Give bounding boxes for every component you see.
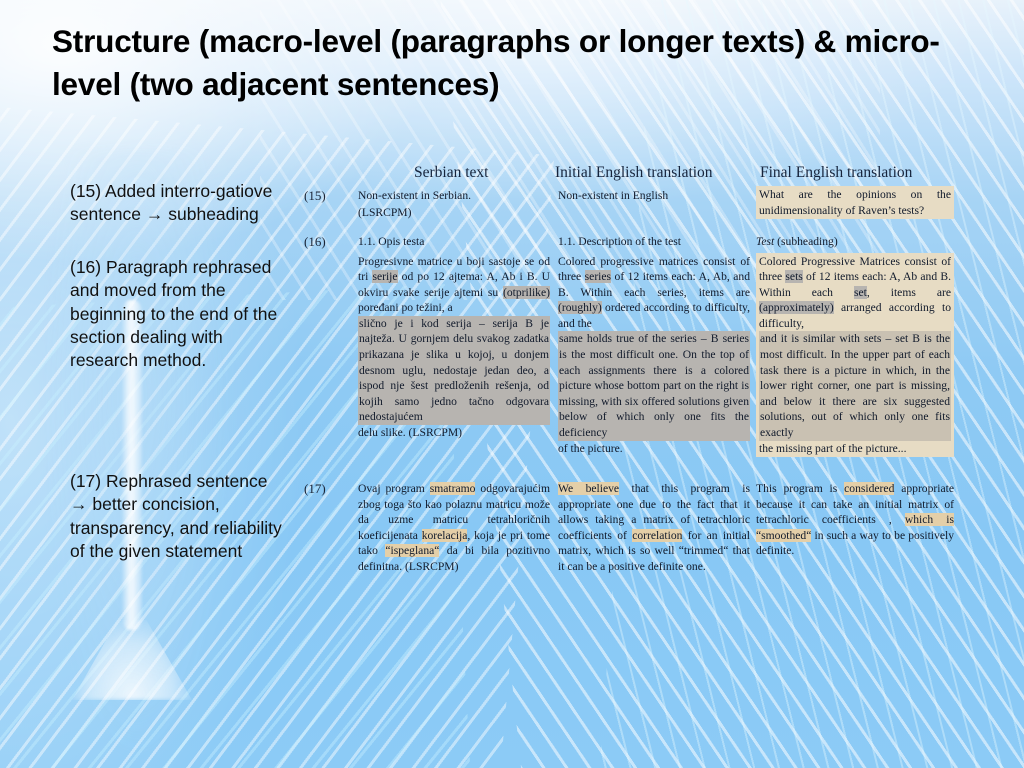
table-row: (17) Ovaj program smatramo odgovarajućim… <box>300 481 1000 611</box>
final-17-a: This program is <box>756 482 844 495</box>
slide-title: Structure (macro-level (paragraphs or lo… <box>52 20 982 106</box>
column-header-initial-english-translation: Initial English translation <box>555 164 713 182</box>
slide-canvas: Structure (macro-level (paragraphs or lo… <box>0 0 1024 768</box>
tower-halo <box>42 150 232 768</box>
row-label-17: (17) <box>304 481 326 497</box>
cell-initial-16: 1.1. Description of the test Colored pro… <box>558 234 750 456</box>
initial-16-highlight-block: same holds true of the series – B series… <box>558 331 750 440</box>
serbian-17-a: Ovaj program <box>358 482 430 495</box>
cell-final-17: This program is considered appropriate b… <box>756 481 954 559</box>
cell-serbian-17: Ovaj program smatramo odgovarajućim zbog… <box>358 481 550 574</box>
cell-final-15: What are the opinions on the unidimensio… <box>756 186 954 219</box>
table-row: (15) Non-existent in Serbian. (LSRCPM) N… <box>300 188 1000 232</box>
serbian-16-highlight-otprilike: (otprilike) <box>503 286 550 299</box>
serbian-17-body: Ovaj program smatramo odgovarajućim zbog… <box>358 481 550 574</box>
serbian-17-highlight-ispeglana: “ispeglana“ <box>385 544 439 557</box>
serbian-15-line2: (LSRCPM) <box>358 205 550 221</box>
cell-serbian-16: 1.1. Opis testa Progresivne matrice u bo… <box>358 234 550 441</box>
initial-15-text: Non-existent in English <box>558 188 750 204</box>
comparison-table: Serbian text Initial English translation… <box>300 164 1000 611</box>
serbian-16-block-wrap: slično je i kod serija – serija B je naj… <box>358 316 550 425</box>
serbian-16-heading: 1.1. Opis testa <box>358 234 550 250</box>
serbian-17-highlight-smatramo: smatramo <box>430 482 476 495</box>
annotation-note-16: (16) Paragraph rephrased and moved from … <box>70 256 285 372</box>
serbian-16-highlight-block: slično je i kod serija – serija B je naj… <box>358 316 550 425</box>
row-label-15: (15) <box>304 188 326 204</box>
serbian-16-tail: delu slike. (LSRCPM) <box>358 425 550 441</box>
table-header-row: Serbian text Initial English translation… <box>300 164 1000 188</box>
final-16-inner-grey-block: and it is similar with sets – set B is t… <box>759 331 951 440</box>
final-16-c: , items are <box>867 286 951 299</box>
final-16-heading: Test (subheading) <box>756 234 954 250</box>
row-label-16: (16) <box>304 234 326 250</box>
initial-16-highlight-series: series <box>585 270 611 283</box>
annotation-note-15: (15) Added interro-gatiove sentence → su… <box>70 180 285 227</box>
serbian-16-c: poređani po težini, a <box>358 301 453 314</box>
tower-base <box>72 620 192 700</box>
final-16-block-wrap: Colored Progressive Matrices consist of … <box>756 253 954 458</box>
final-16-heading-rest: (subheading) <box>774 235 837 248</box>
initial-17-highlight-we-believe: We believe <box>558 482 619 495</box>
table-row: (16) 1.1. Opis testa Progresivne matrice… <box>300 234 1000 439</box>
initial-17-highlight-correlation: correlation <box>632 529 682 542</box>
initial-16-block-wrap: same holds true of the series – B series… <box>558 331 750 440</box>
serbian-16-body: Progresivne matrice u boji sastoje se od… <box>358 254 550 316</box>
initial-16-body: Colored progressive matrices consist of … <box>558 254 750 332</box>
serbian-17-highlight-korelacija: korelacija <box>422 529 468 542</box>
initial-16-blk-whose: whose <box>594 379 624 392</box>
cell-initial-17: We believe that this program is appropri… <box>558 481 750 574</box>
initial-16-tail: of the picture. <box>558 441 750 457</box>
column-header-serbian-text: Serbian text <box>414 164 488 182</box>
final-16-tail: the missing part of the picture... <box>759 442 906 455</box>
initial-16-highlight-roughly: (roughly) <box>558 301 602 314</box>
final-16-heading-italic: Test <box>756 235 774 248</box>
initial-16-heading: 1.1. Description of the test <box>558 234 750 250</box>
final-17-highlight-considered: considered <box>844 482 894 495</box>
final-16-highlight-set: set <box>854 286 867 299</box>
serbian-15-line1: Non-existent in Serbian. <box>358 188 550 204</box>
cell-initial-15: Non-existent in English <box>558 188 750 204</box>
initial-17-body: We believe that this program is appropri… <box>558 481 750 574</box>
cell-serbian-15: Non-existent in Serbian. (LSRCPM) <box>358 188 550 220</box>
final-15-text: What are the opinions on the unidimensio… <box>756 186 954 219</box>
cell-final-16: Test (subheading) Colored Progressive Ma… <box>756 234 954 457</box>
serbian-16-highlight-serije: serije <box>372 270 397 283</box>
final-16-highlight-block: Colored Progressive Matrices consist of … <box>756 253 954 458</box>
final-16-highlight-approximately: (approximately) <box>759 301 834 314</box>
final-17-body: This program is considered appropriate b… <box>756 481 954 559</box>
final-16-highlight-sets: sets <box>785 270 802 283</box>
column-header-final-english-translation: Final English translation <box>760 164 912 182</box>
annotation-note-17: (17) Rephrased sentence → better concisi… <box>70 470 285 563</box>
